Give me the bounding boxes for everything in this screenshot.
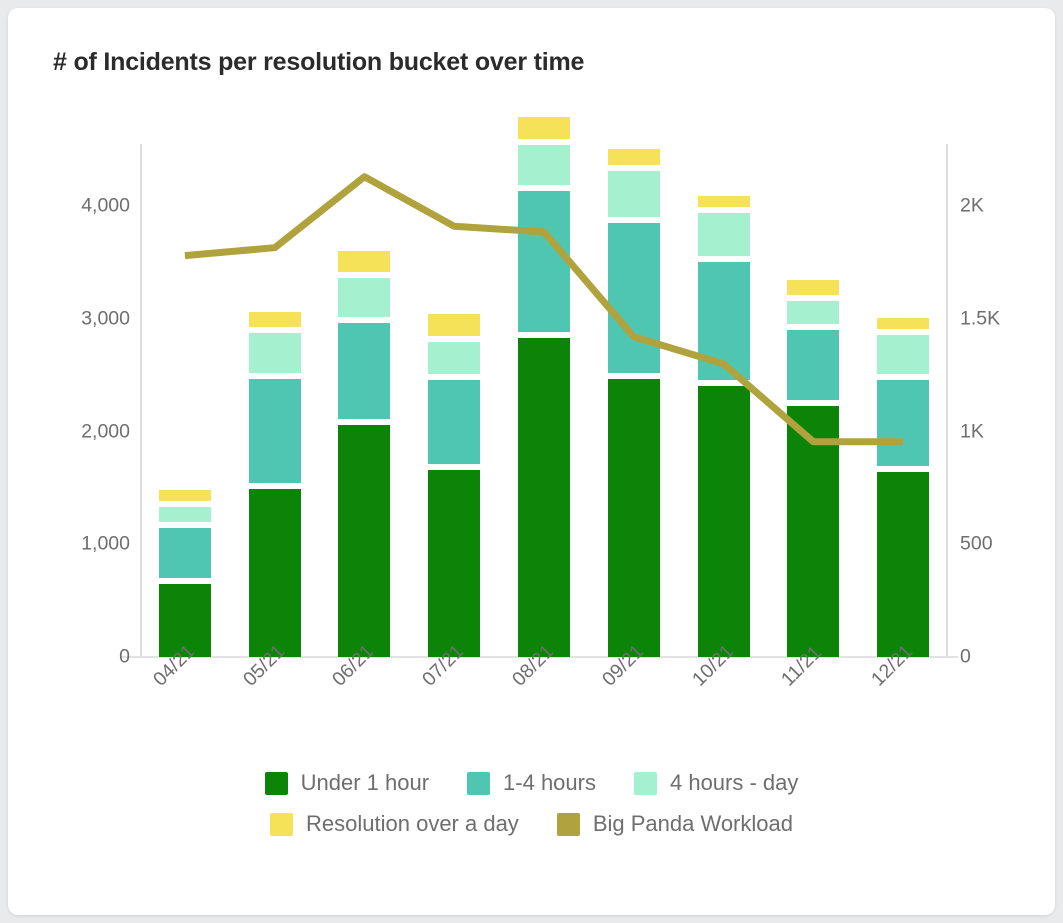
bar-segment[interactable]	[518, 117, 570, 139]
y-axis-left-tick: 4,000	[81, 195, 130, 218]
y-axis-right-tick: 2K	[960, 195, 984, 218]
legend-swatch-icon	[557, 813, 580, 836]
y-axis-left-tick: 3,000	[81, 307, 130, 330]
legend-item-label: 1-4 hours	[503, 770, 596, 796]
legend-row-primary: Under 1 hour1-4 hours4 hours - day	[8, 770, 1055, 796]
y-axis-right-tick: 500	[960, 533, 993, 556]
legend-item[interactable]: 1-4 hours	[467, 770, 596, 796]
y-axis-right-tick: 1K	[960, 420, 984, 443]
legend-swatch-icon	[634, 772, 657, 795]
legend-swatch-icon	[265, 772, 288, 795]
legend-item[interactable]: Resolution over a day	[270, 811, 519, 837]
legend-item-label: Under 1 hour	[301, 770, 429, 796]
legend-item-label: Big Panda Workload	[593, 811, 793, 837]
screenshot-root: # of Incidents per resolution bucket ove…	[0, 0, 1063, 923]
plot-area	[140, 144, 948, 657]
chart-card: # of Incidents per resolution bucket ove…	[8, 8, 1055, 915]
y-axis-right-tick: 0	[960, 646, 971, 669]
workload-line[interactable]	[185, 177, 903, 442]
legend-item[interactable]: Big Panda Workload	[557, 811, 793, 837]
y-axis-left-tick: 0	[119, 646, 130, 669]
y-axis-left-tick: 1,000	[81, 533, 130, 556]
chart-legend: Under 1 hour1-4 hours4 hours - day Resol…	[8, 770, 1055, 852]
workload-line-layer	[140, 144, 948, 657]
legend-swatch-icon	[467, 772, 490, 795]
legend-row-secondary: Resolution over a dayBig Panda Workload	[8, 811, 1055, 837]
y-axis-right-tick: 1.5K	[960, 307, 1000, 330]
y-axis-left-tick: 2,000	[81, 420, 130, 443]
legend-swatch-icon	[270, 813, 293, 836]
legend-item[interactable]: Under 1 hour	[265, 770, 429, 796]
legend-item-label: Resolution over a day	[306, 811, 519, 837]
legend-item-label: 4 hours - day	[670, 770, 798, 796]
legend-item[interactable]: 4 hours - day	[634, 770, 798, 796]
